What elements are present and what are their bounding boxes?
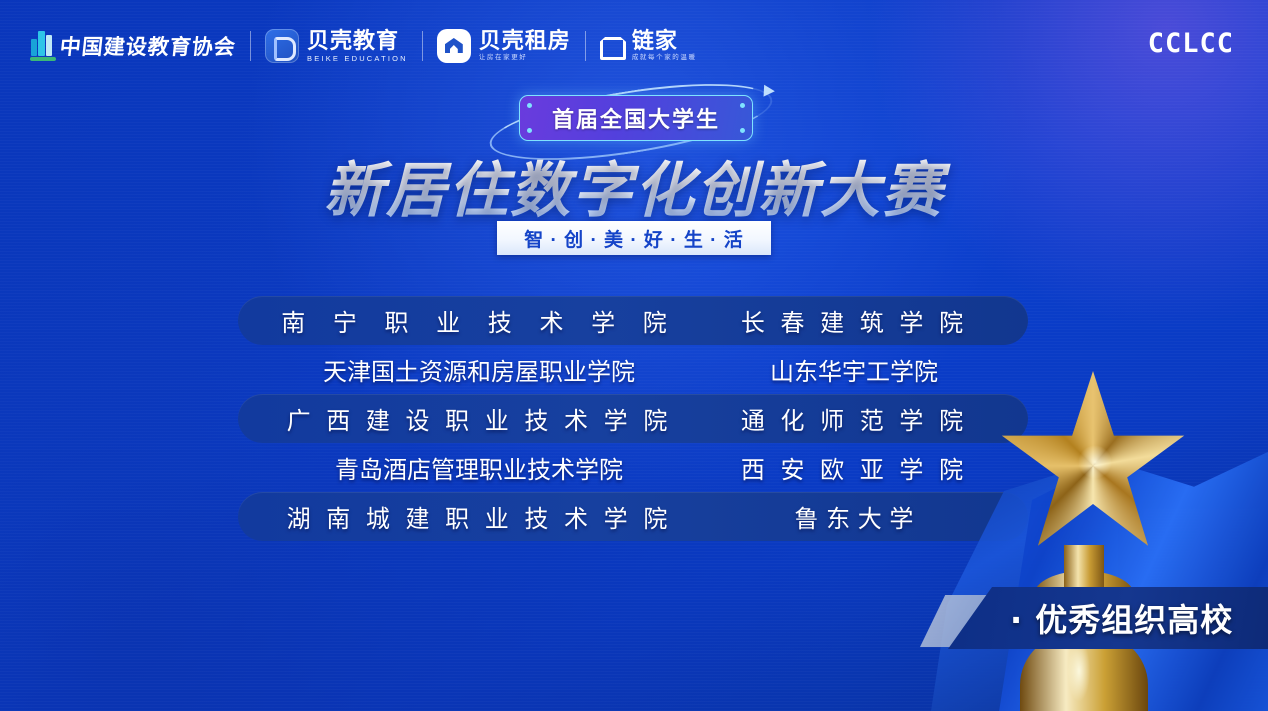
badge-corner-dot — [527, 103, 532, 108]
beike-zufang-name: 贝壳租房 — [479, 30, 571, 52]
lianjia-name: 链家 — [632, 30, 697, 52]
school-name-left: 天津国土资源和房屋职业学院 — [274, 352, 684, 387]
hero-badge-area: 首届全国大学生 — [0, 95, 1268, 143]
school-name-left: 广 西 建 设 职 业 技 术 学 院 — [274, 401, 684, 436]
school-list: 南 宁 职 业 技 术 学 院 长 春 建 筑 学 院 天津国土资源和房屋职业学… — [238, 296, 1028, 541]
table-row: 青岛酒店管理职业技术学院 西 安 欧 亚 学 院 — [238, 443, 1028, 492]
logo-divider-1 — [250, 31, 251, 61]
lianjia-logo-icon — [600, 33, 626, 59]
school-name-left: 青岛酒店管理职业技术学院 — [274, 450, 684, 485]
table-row: 天津国土资源和房屋职业学院 山东华宇工学院 — [238, 345, 1028, 394]
table-row: 广 西 建 设 职 业 技 术 学 院 通 化 师 范 学 院 — [238, 394, 1028, 443]
star-sparkle-icon — [1078, 445, 1112, 479]
school-name-right: 长 春 建 筑 学 院 — [704, 303, 1004, 338]
logo-beike-zufang: 贝壳租房 让房在家更好 — [437, 29, 571, 63]
badge-corner-dot — [740, 103, 745, 108]
badge-corner-dot — [527, 128, 532, 133]
association-name: 中国建设教育协会 — [58, 31, 237, 61]
logo-china-construction-education-association: 中国建设教育协会 — [30, 31, 236, 61]
table-row: 湖 南 城 建 职 业 技 术 学 院 鲁 东 大 学 — [238, 492, 1028, 541]
trophy-neck — [1064, 545, 1104, 593]
slogan-text: 智 · 创 · 美 · 好 · 生 · 活 — [524, 225, 743, 252]
gold-star-trophy — [928, 371, 1268, 711]
org-mark-cclcc: CCLCC — [1148, 28, 1234, 59]
building-icon — [30, 31, 56, 61]
table-row: 南 宁 职 业 技 术 学 院 长 春 建 筑 学 院 — [238, 296, 1028, 345]
logo-divider-2 — [422, 31, 423, 61]
ribbon-label: · 优秀组织高校 — [1010, 595, 1233, 641]
badge-corner-dot — [740, 128, 745, 133]
poster-canvas: 中国建设教育协会 贝壳教育 BEIKE EDUCATION 贝壳租房 让房在家更… — [0, 0, 1268, 711]
beike-zufang-tagline: 让房在家更好 — [479, 55, 571, 62]
award-ribbon: · 优秀组织高校 — [920, 587, 1268, 653]
school-name-left: 南 宁 职 业 技 术 学 院 — [274, 303, 684, 338]
lianjia-tagline: 成就每个家的温暖 — [632, 55, 697, 62]
logo-lianjia: 链家 成就每个家的温暖 — [600, 30, 697, 62]
slogan-bar: 智 · 创 · 美 · 好 · 生 · 活 — [497, 221, 771, 255]
logo-beike-education: 贝壳教育 BEIKE EDUCATION — [265, 29, 408, 63]
partner-logo-bar: 中国建设教育协会 贝壳教育 BEIKE EDUCATION 贝壳租房 让房在家更… — [30, 22, 697, 70]
beike-education-logo-icon — [265, 29, 299, 63]
hero-badge: 首届全国大学生 — [519, 95, 753, 141]
logo-divider-3 — [585, 31, 586, 61]
hero-badge-label: 首届全国大学生 — [552, 102, 720, 134]
beike-zufang-logo-icon — [437, 29, 471, 63]
page-title: 新居住数字化创新大赛 — [0, 142, 1268, 229]
beike-education-name-en: BEIKE EDUCATION — [307, 55, 408, 63]
school-name-left: 湖 南 城 建 职 业 技 术 学 院 — [274, 499, 684, 534]
beike-education-name: 贝壳教育 — [307, 30, 408, 52]
ribbon-banner: · 优秀组织高校 — [948, 587, 1268, 649]
